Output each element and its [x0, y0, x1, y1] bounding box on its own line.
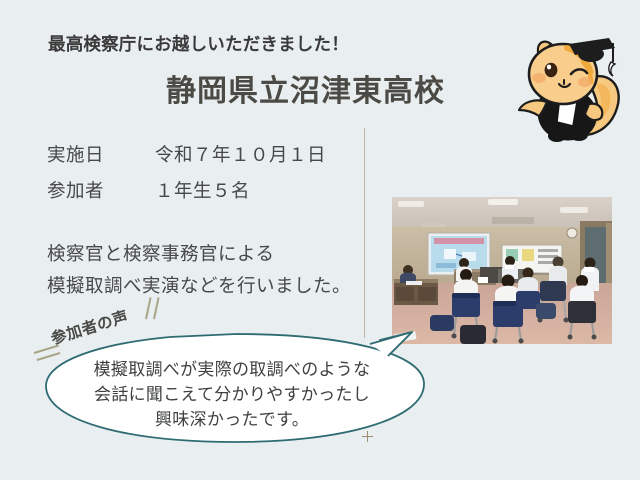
- page-title-secondary: 静岡県立沼津東高校: [166, 66, 445, 110]
- speech-bubble-line-2: 会話に聞こえて分かりやすかったし: [62, 382, 402, 407]
- voice-banner-tick: [145, 297, 152, 319]
- detail-row-date: 実施日令和７年１０月１日: [47, 141, 326, 167]
- voice-banner-tick: [153, 297, 160, 319]
- detail-value-participants: １年生５名: [155, 177, 250, 203]
- detail-row-participants: 参加者１年生５名: [47, 177, 250, 203]
- description-line-1: 検察官と検察事務官による: [47, 240, 274, 266]
- page-title-primary: 最高検察庁にお越しいただきました！: [48, 31, 349, 56]
- vertical-divider: [364, 128, 365, 338]
- detail-label-participants: 参加者: [47, 177, 155, 203]
- slide-canvas: 最高検察庁にお越しいただきました！ 静岡県立沼津東高校: [0, 0, 640, 480]
- detail-label-date: 実施日: [47, 141, 155, 167]
- mascot-squirrel-icon: [497, 18, 625, 146]
- registration-cross-mark: [362, 431, 373, 442]
- speech-bubble-line-1: 模擬取調べが実際の取調べのような: [62, 357, 402, 382]
- detail-value-date: 令和７年１０月１日: [155, 141, 326, 167]
- description-line-2: 模擬取調べ実演などを行いました。: [47, 272, 351, 298]
- speech-bubble-text: 模擬取調べが実際の取調べのような 会話に聞こえて分かりやすかったし 興味深かった…: [62, 357, 402, 432]
- activity-photo: [392, 197, 612, 344]
- speech-bubble-line-3: 興味深かったです。: [62, 407, 402, 432]
